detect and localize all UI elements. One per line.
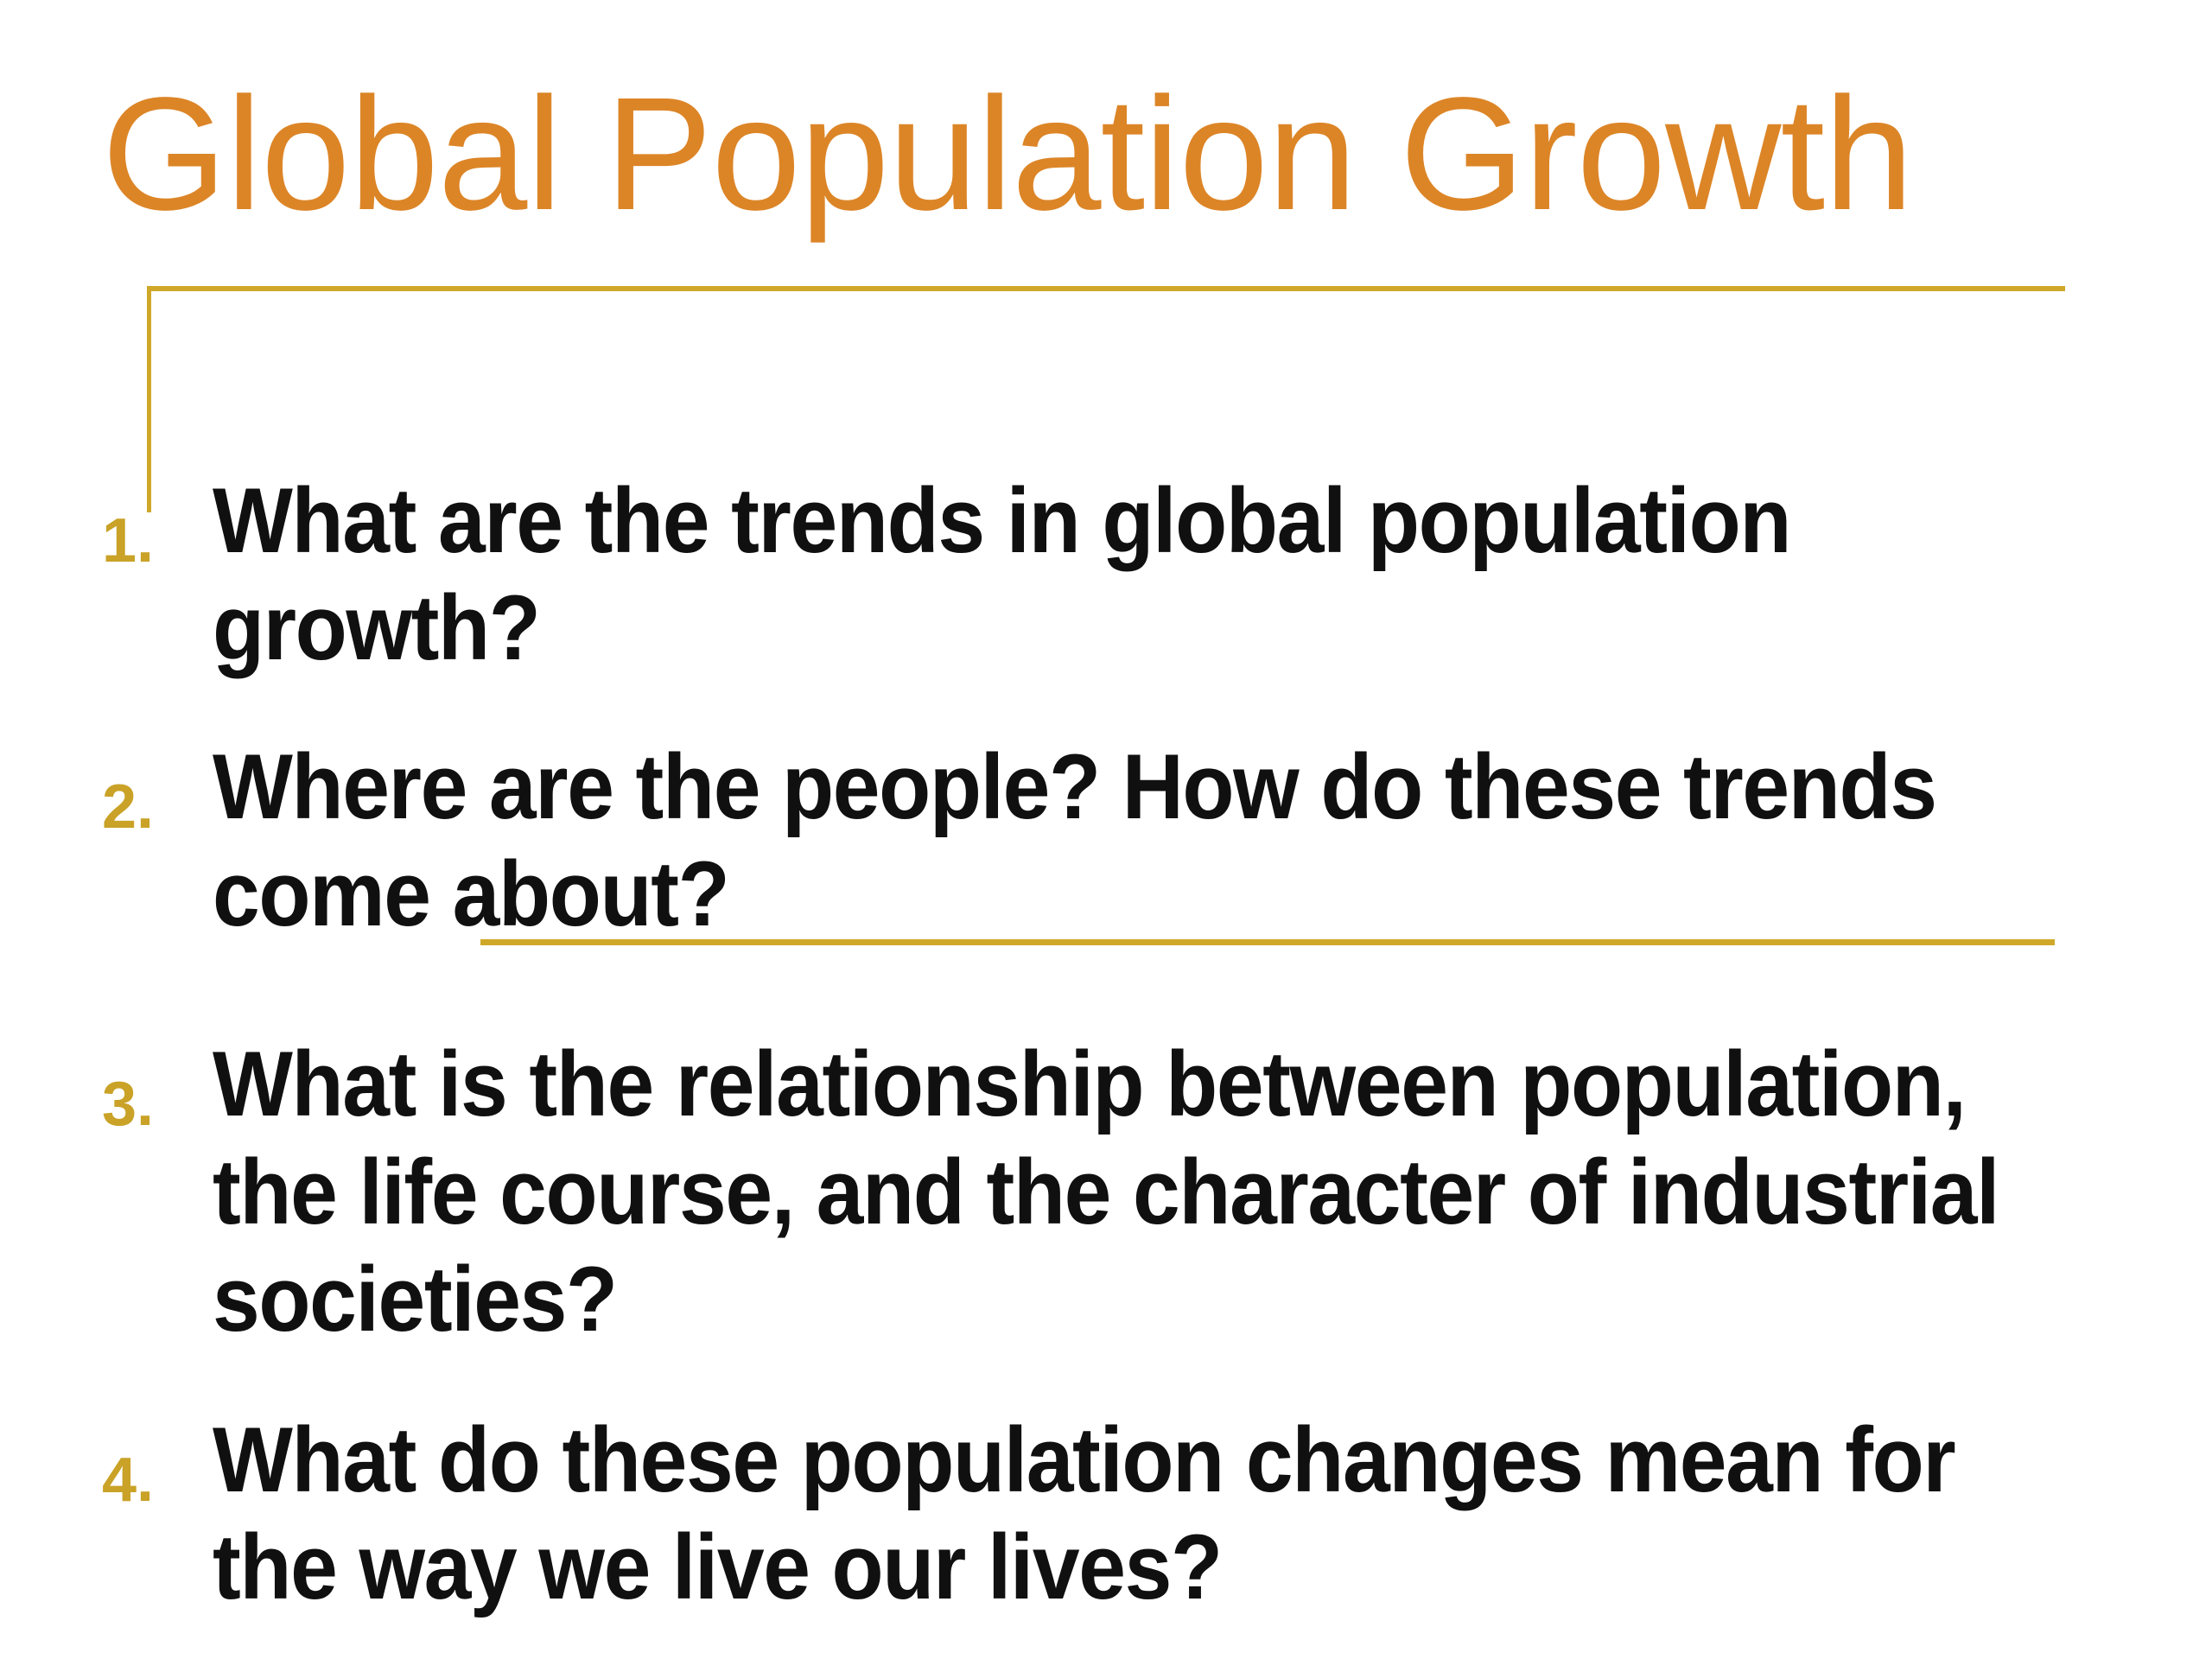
page-title: Global Population Growth xyxy=(102,74,1913,235)
list-item: 2. Where are the people? How do these tr… xyxy=(0,733,2212,947)
presentation-slide: Global Population Growth 1. What are the… xyxy=(0,0,2212,1659)
list-item-label: What are the trends in global population… xyxy=(213,467,2025,681)
list-item: 3. What is the relationship between popu… xyxy=(0,1030,2212,1351)
list-item-label: What do these population changes mean fo… xyxy=(213,1406,2025,1620)
list-item-number: 2. xyxy=(102,733,213,838)
title-underline-rule xyxy=(147,286,2065,291)
question-list: 1. What are the trends in global populat… xyxy=(0,467,2212,1620)
list-item: 1. What are the trends in global populat… xyxy=(0,467,2212,681)
list-item-number: 3. xyxy=(102,1030,213,1135)
list-item-label: What is the relationship between populat… xyxy=(213,1030,2025,1351)
list-item-number: 1. xyxy=(102,467,213,572)
list-item-number: 4. xyxy=(102,1406,213,1511)
list-item: 4. What do these population changes mean… xyxy=(0,1406,2212,1620)
list-item-label: Where are the people? How do these trend… xyxy=(213,733,2025,947)
